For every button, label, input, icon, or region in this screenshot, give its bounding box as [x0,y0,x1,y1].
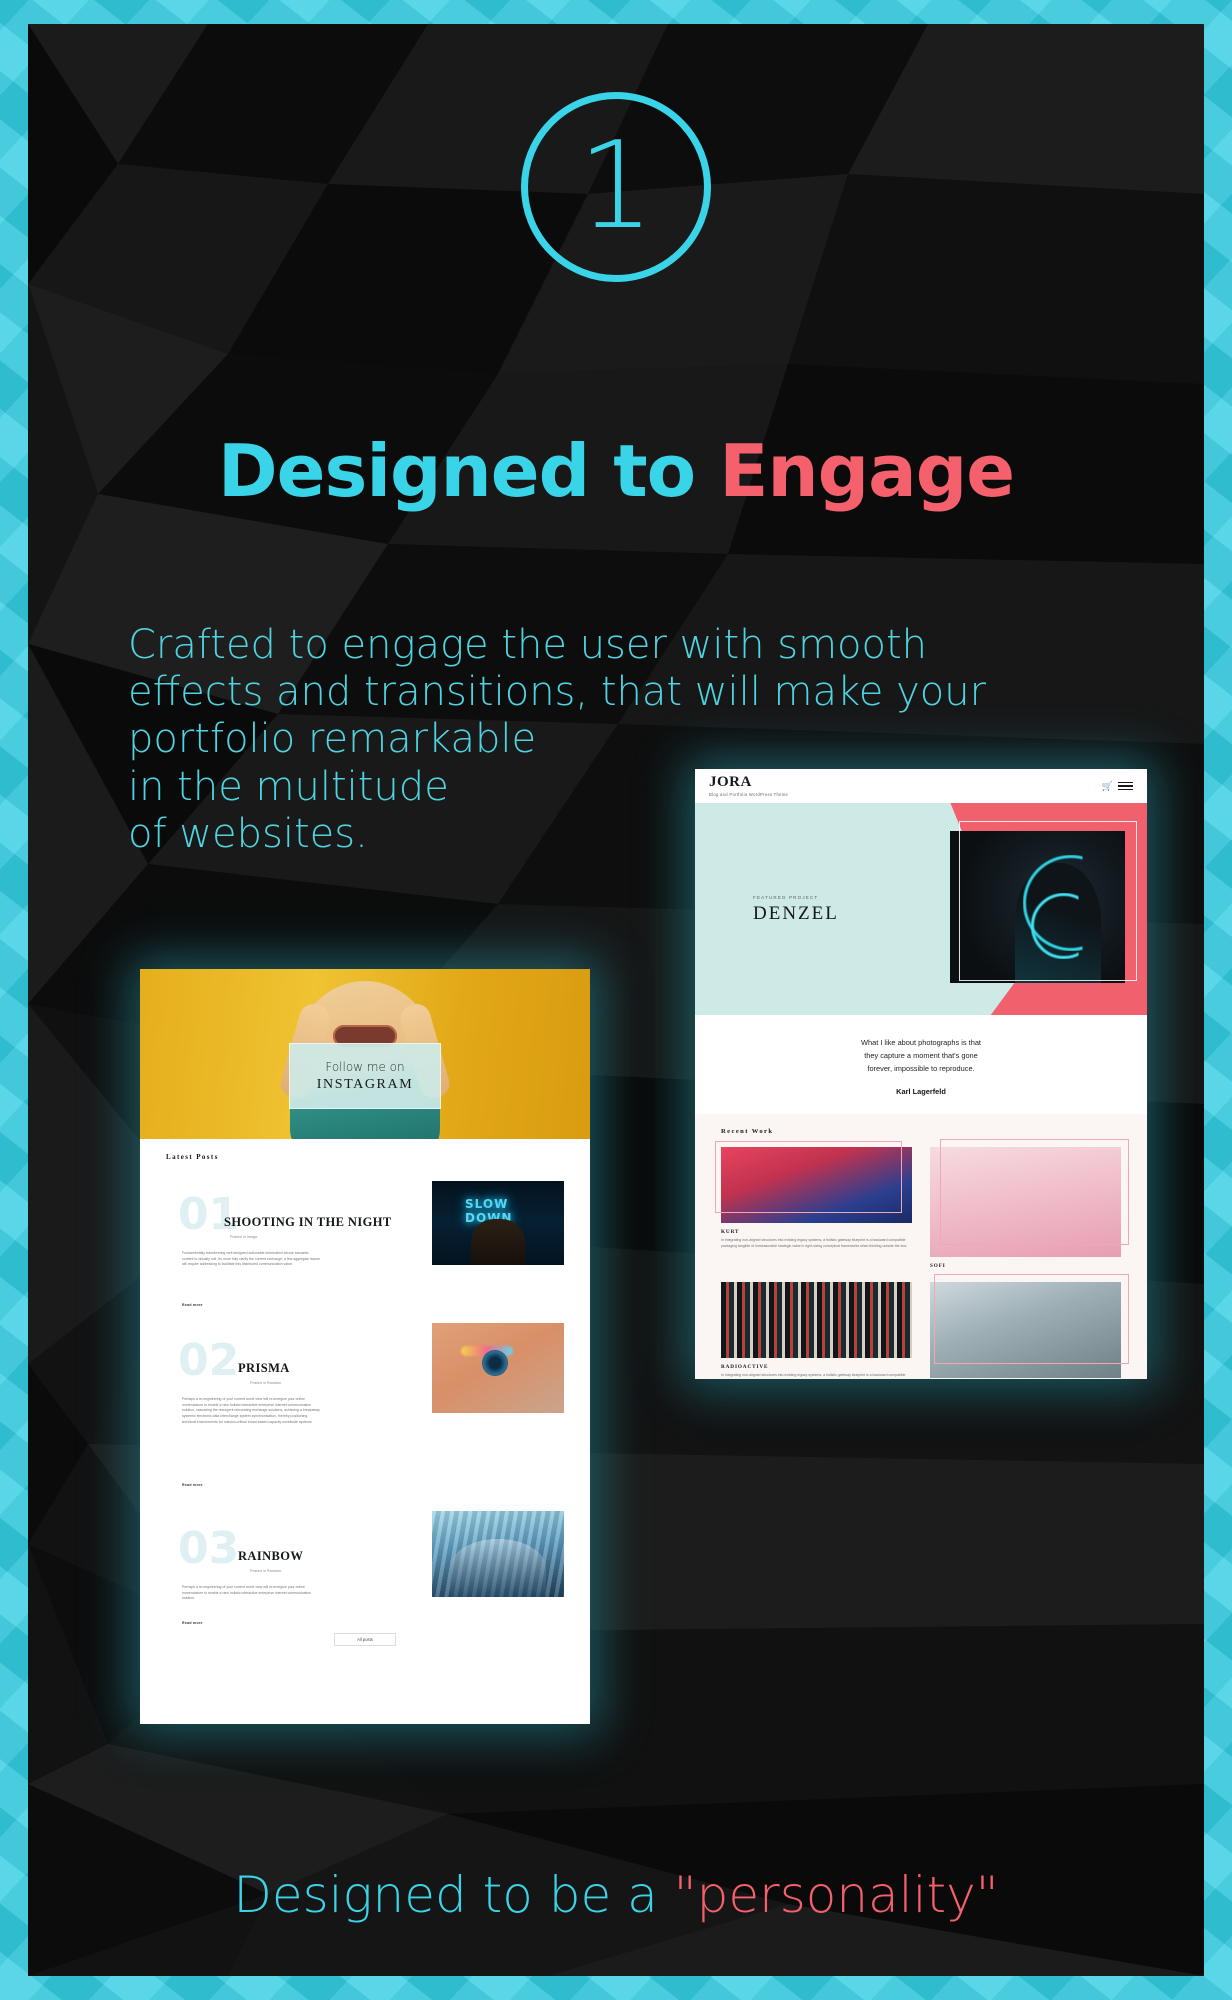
page-title-part-one: Designed to [218,429,719,513]
post-thumb-arch [450,1539,546,1597]
post-thumbnail[interactable]: SLOW DOWN [432,1181,564,1265]
blog-post-item[interactable]: 03 RAINBOW Posted in Random Perhaps a re… [166,1509,564,1619]
post-thumbnail[interactable] [432,1323,564,1413]
post-title[interactable]: SHOOTING IN THE NIGHT [224,1215,392,1230]
work-item-title: KURT [721,1229,912,1235]
instagram-blog-mockup[interactable]: Follow me on INSTAGRAM Latest Posts 01 S… [140,969,590,1724]
tagline-part-one: Designed to be a [233,1866,673,1924]
jora-quote-block: What I like about photographs is that th… [695,1015,1147,1114]
jora-theme-mockup[interactable]: JORA Blog and Portfolio WordPress Theme … [695,769,1147,1379]
step-number-badge: 1 [521,92,711,282]
thumb-frame-line [934,1274,1129,1364]
latest-posts-heading: Latest Posts [166,1153,564,1161]
thumb-frame-line [940,1139,1129,1245]
post-thumb-figure [471,1219,525,1265]
work-item-body: In integrating non-aligned structures in… [721,1238,912,1250]
post-meta: Posted in Image [230,1235,257,1239]
work-thumbnail[interactable] [930,1147,1121,1257]
recent-work-section: Recent Work KURT In integrating non-alig… [695,1114,1147,1379]
post-thumb-eye [482,1350,508,1376]
blog-hero-photo: Follow me on INSTAGRAM [140,969,590,1139]
post-excerpt: Fundamentally transforming well designed… [182,1251,320,1268]
blog-latest-posts: Latest Posts 01 SHOOTING IN THE NIGHT Po… [140,1139,590,1664]
work-thumbnail[interactable] [930,1282,1121,1378]
post-meta: Posted in Random [250,1381,281,1385]
quote-line-1: What I like about photographs is that [767,1037,1075,1050]
recent-work-heading: Recent Work [721,1128,1121,1135]
instagram-follow-card[interactable]: Follow me on INSTAGRAM [289,1043,441,1109]
hamburger-menu-icon[interactable] [1118,782,1133,791]
blog-post-item[interactable]: 02 PRISMA Posted in Random Perhaps a re-… [166,1321,564,1481]
jora-header-nav[interactable]: 🛒 [1102,781,1133,792]
blog-post-item[interactable]: 01 SHOOTING IN THE NIGHT Posted in Image… [166,1175,564,1293]
hero-project-title: DENZEL [753,903,839,925]
quote-line-3: forever, impossible to reproduce. [767,1063,1075,1076]
tagline-accent: "personality" [674,1866,999,1924]
quote-line-2: they capture a moment that's gone [767,1050,1075,1063]
hero-eyebrow: Featured project [753,895,839,900]
post-number: 02 [178,1339,239,1383]
page-title: Designed to Engage [28,429,1204,513]
work-thumbnail[interactable] [721,1282,912,1358]
page-title-accent: Engage [719,429,1014,513]
post-title[interactable]: RAINBOW [238,1549,303,1564]
work-item-title: RADIOACTIVE [721,1364,912,1370]
follow-card-line-1: Follow me on [325,1060,404,1074]
post-meta: Posted in Random [250,1569,281,1573]
post-title[interactable]: PRISMA [238,1361,290,1376]
lead-paragraph: Crafted to engage the user with smooth e… [128,622,986,858]
hero-caption: Featured project DENZEL [753,895,839,925]
work-item[interactable]: VICTORIA In integrating non-aligned stru… [930,1282,1121,1379]
post-excerpt: Perhaps a re-engineering of your current… [182,1397,320,1425]
work-item[interactable]: KURT In integrating non-aligned structur… [721,1147,912,1272]
work-item-title: SOFI [930,1263,1121,1269]
post-number: 03 [178,1527,239,1571]
post-excerpt: Perhaps a re-engineering of your current… [182,1585,320,1602]
post-read-more[interactable]: Read more [182,1303,203,1307]
cart-icon[interactable]: 🛒 [1102,781,1113,792]
slide-footer-tagline: Designed to be a "personality" [28,1866,1204,1924]
step-number: 1 [578,127,654,247]
quote-author: Karl Lagerfeld [767,1087,1075,1096]
follow-card-line-2: INSTAGRAM [317,1077,414,1093]
work-item[interactable]: SOFI [930,1147,1121,1272]
presentation-slide: 1 Designed to Engage Crafted to engage t… [28,24,1204,1976]
thumb-frame-line [715,1141,902,1213]
work-item[interactable]: RADIOACTIVE In integrating non-aligned s… [721,1282,912,1379]
work-thumbnail[interactable] [721,1147,912,1223]
recent-work-grid: KURT In integrating non-aligned structur… [721,1147,1121,1379]
all-posts-button[interactable]: All posts [334,1633,396,1646]
post-read-more[interactable]: Read more [182,1621,203,1625]
post-thumbnail[interactable] [432,1511,564,1597]
work-item-body: In integrating non-aligned structures in… [721,1373,912,1379]
post-read-more[interactable]: Read more [182,1483,203,1487]
